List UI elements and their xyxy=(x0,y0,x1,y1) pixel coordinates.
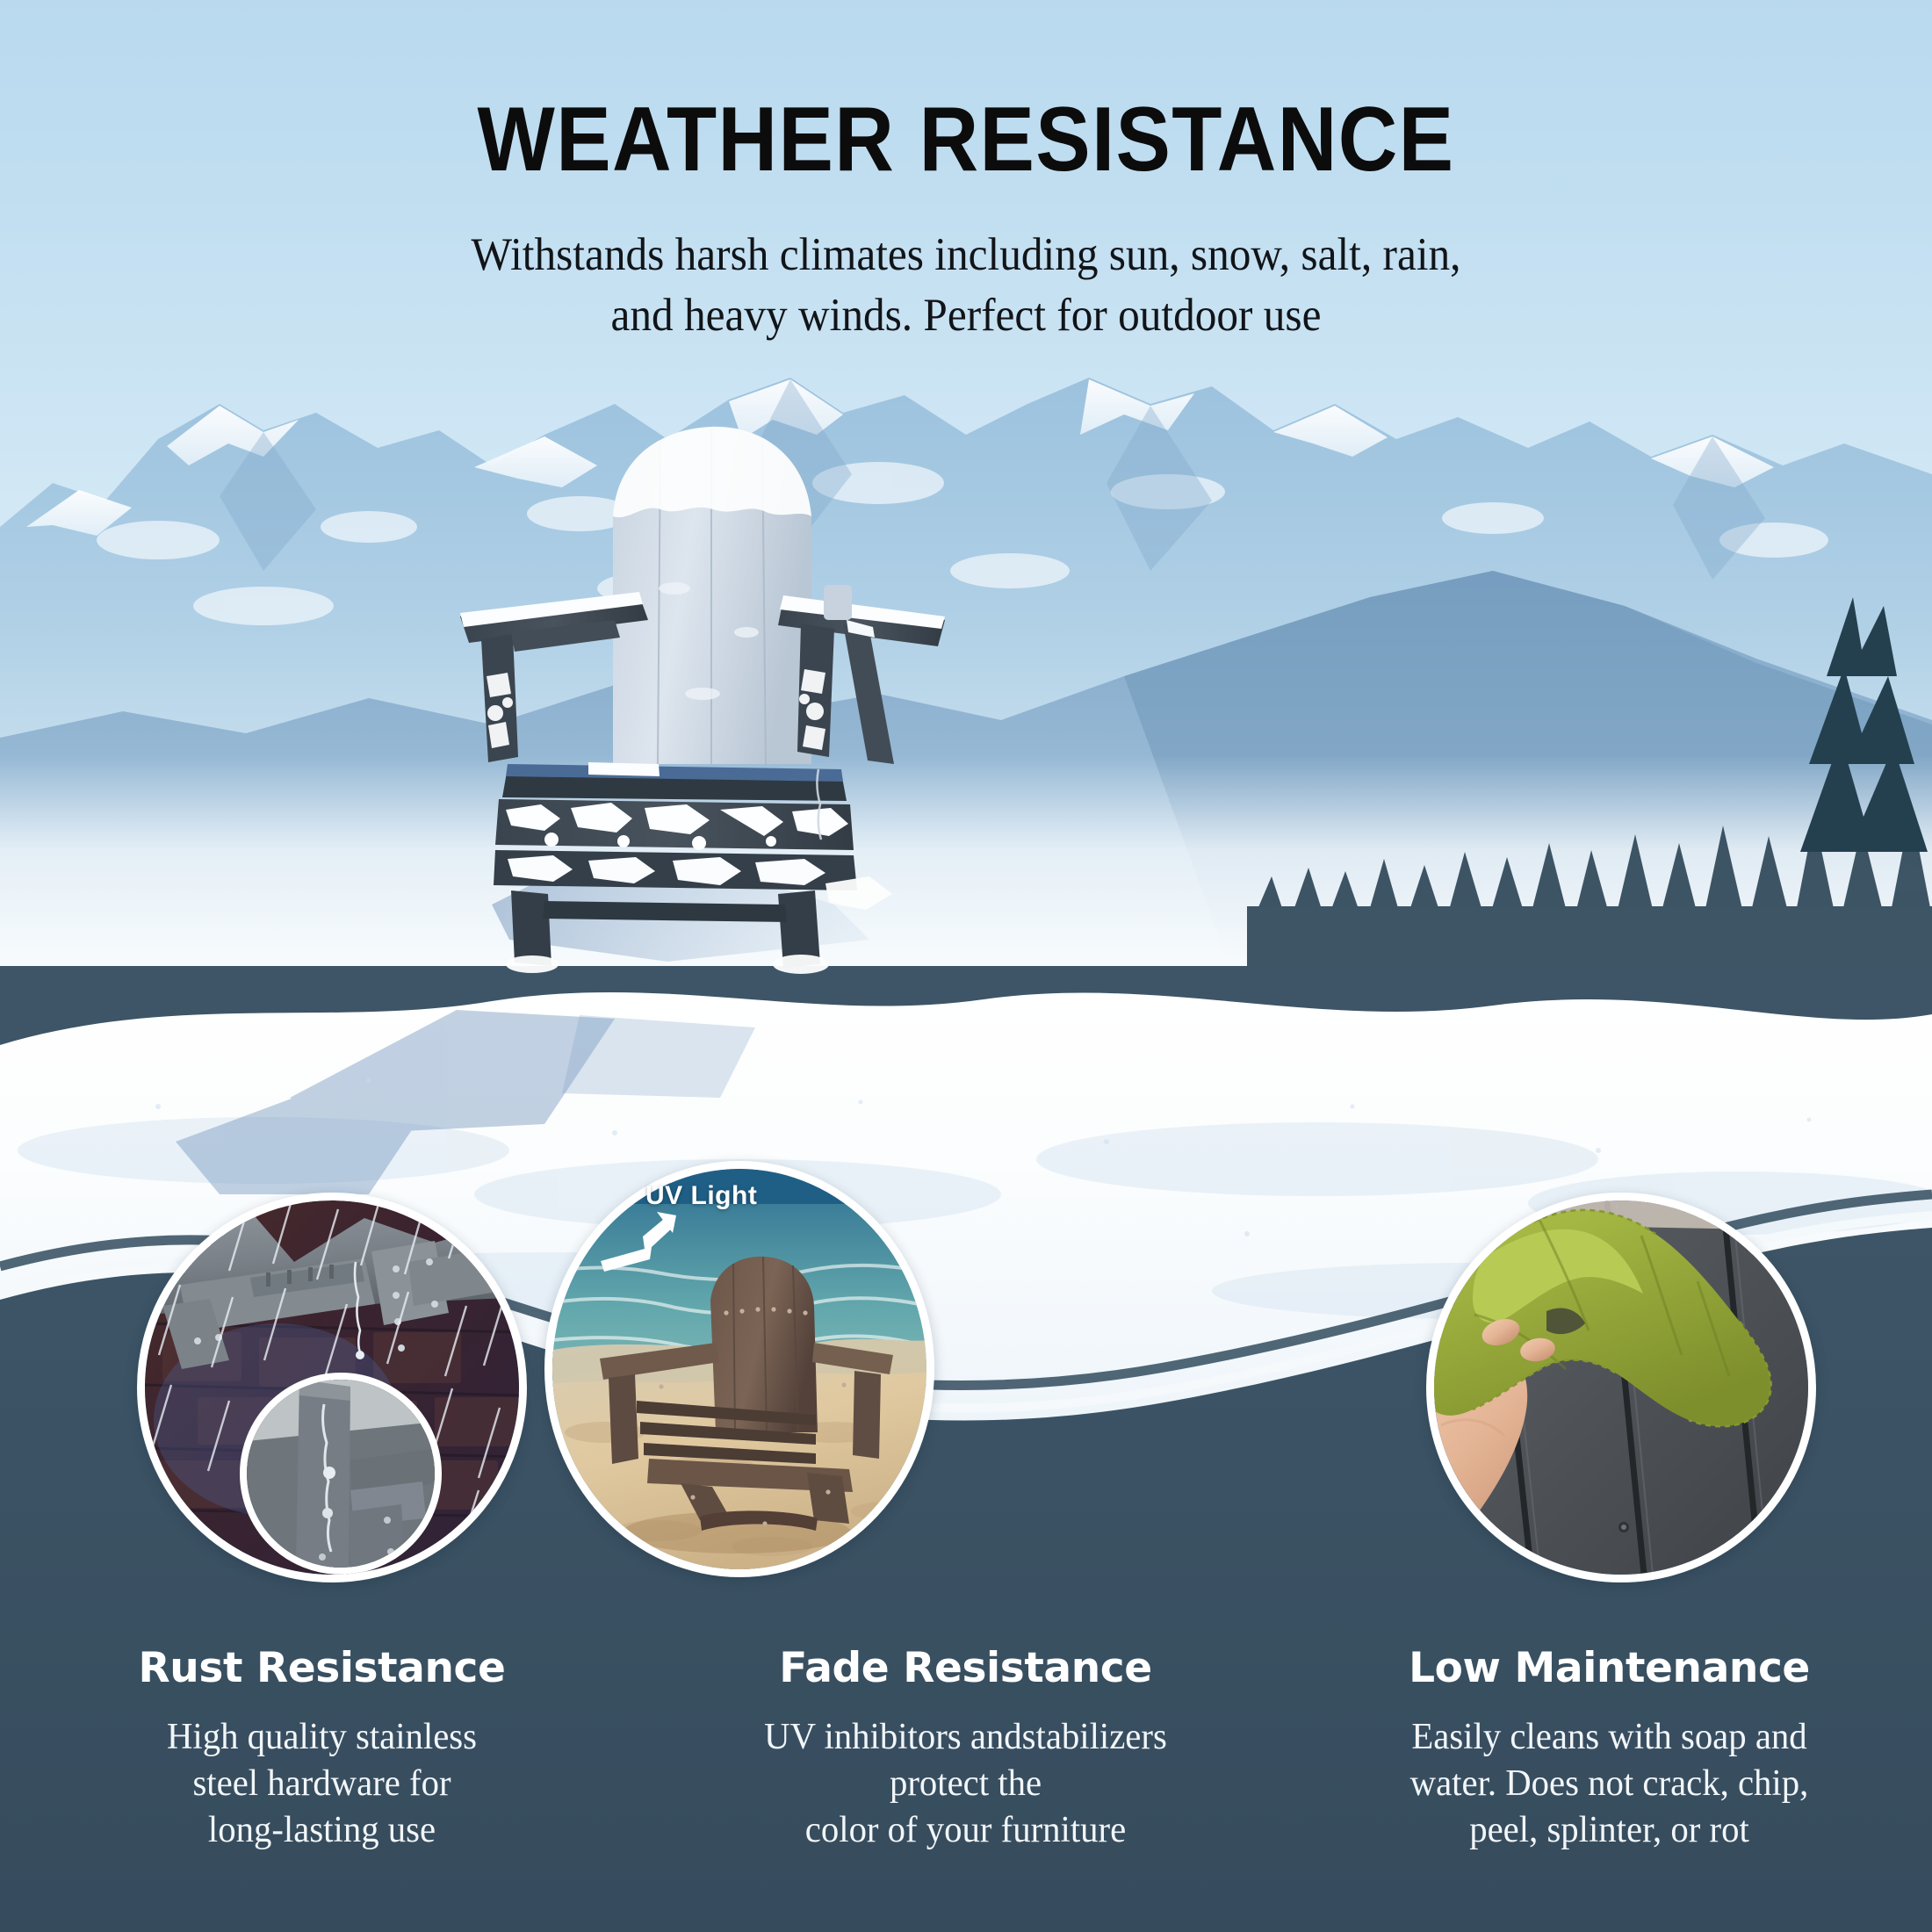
header-block: WEATHER RESISTANCE Withstands harsh clim… xyxy=(0,0,1932,346)
feature-body-line-2: steel hardware for xyxy=(192,1763,451,1804)
feature-body-line-3: peel, splinter, or rot xyxy=(1469,1810,1749,1850)
uv-light-label: UV Light xyxy=(645,1181,757,1211)
inset-detail-chain-hardware xyxy=(240,1373,442,1575)
uv-light-arrow-icon xyxy=(599,1210,678,1276)
feature-body: Easily cleans with soap and water. Does … xyxy=(1317,1714,1900,1854)
mountain-range-mid xyxy=(0,544,1932,966)
feature-image-rust-resistance xyxy=(137,1193,527,1582)
feature-card-fade-resistance: Fade Resistance UV inhibitors andstabili… xyxy=(644,1646,1287,1853)
page-title: WEATHER RESISTANCE xyxy=(97,91,1835,188)
feature-cards-row: Rust Resistance High quality stainless s… xyxy=(0,1646,1932,1853)
feature-body-line-1: Easily cleans with soap and xyxy=(1411,1717,1806,1757)
infographic-canvas: WEATHER RESISTANCE Withstands harsh clim… xyxy=(0,0,1932,1932)
feature-heading: Rust Resistance xyxy=(21,1646,623,1691)
feature-body: UV inhibitors andstabilizers protect the… xyxy=(674,1714,1257,1854)
feature-body-line-3: color of your furniture xyxy=(805,1810,1126,1850)
page-subtitle: Withstands harsh climates including sun,… xyxy=(68,225,1864,346)
feature-image-low-maintenance xyxy=(1426,1193,1816,1582)
hero-chair-image xyxy=(457,413,948,975)
feature-heading: Low Maintenance xyxy=(1308,1646,1910,1691)
feature-body: High quality stainless steel hardware fo… xyxy=(30,1714,613,1854)
subtitle-line-1: Withstands harsh climates including sun,… xyxy=(68,225,1864,285)
feature-body-line-2: protect the xyxy=(890,1763,1042,1804)
feature-card-rust-resistance: Rust Resistance High quality stainless s… xyxy=(0,1646,644,1853)
feature-body-line-1: High quality stainless xyxy=(167,1717,477,1757)
subtitle-line-2: and heavy winds. Perfect for outdoor use xyxy=(68,285,1864,346)
feature-body-line-1: UV inhibitors andstabilizers xyxy=(764,1717,1167,1757)
feature-body-line-3: long-lasting use xyxy=(208,1810,436,1850)
feature-card-low-maintenance: Low Maintenance Easily cleans with soap … xyxy=(1287,1646,1931,1853)
feature-body-line-2: water. Does not crack, chip, xyxy=(1410,1763,1809,1804)
feature-heading: Fade Resistance xyxy=(665,1646,1266,1691)
